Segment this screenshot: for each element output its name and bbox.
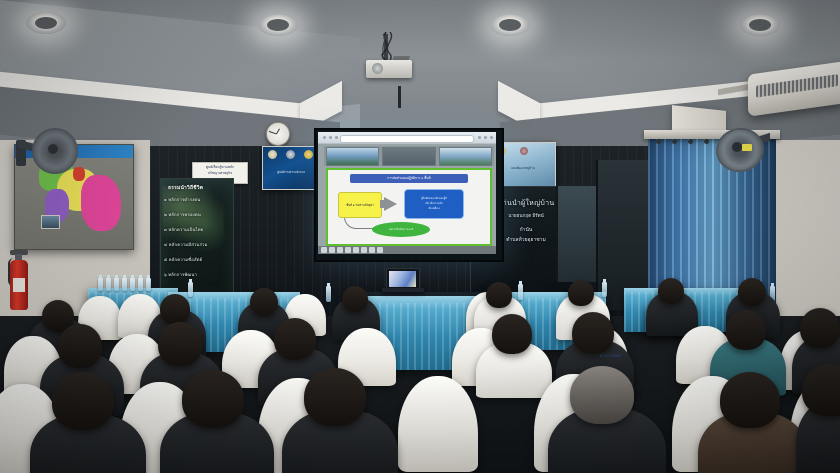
slide-thumbnail-strip [324,146,494,166]
emblem-seal-3-icon [304,150,313,159]
person-b8-head [738,278,766,306]
person-b5-head [486,282,512,308]
wall-clock-icon [266,122,290,146]
curtain-ring-4 [704,139,709,144]
browser-maximize-icon[interactable] [484,136,487,139]
browser-minimize-icon[interactable] [478,136,481,139]
browser-chrome-bar [318,132,496,144]
presenter-laptop-base [382,288,424,292]
taskbar-icon-5[interactable] [353,247,359,253]
slide-green-ellipse: ผลการดำเนินงาน ๑ ปี [372,222,430,237]
ceiling-downlight-3-icon [490,14,530,36]
slide-yellow-box: ขั้นที่ ๑ วิเคราะห์ปัญหา [338,192,382,218]
framed-poster-left-caption: ศูนย์ดำรงธรรมอำเภอ [264,170,318,175]
wall-sign-line-2: ปรัชญาเศรษฐกิจ [208,171,232,176]
slide-blue-box: ผู้รับผิดชอบหลักและผู้ที่ เกี่ยวข้องร่วม… [404,189,464,219]
curtain-ring-2 [672,139,677,144]
water-bottle-2 [106,278,111,291]
air-conditioner-vent [756,74,838,98]
projector-lens-icon [372,63,383,74]
glass-panel-item-2: ๒ หลักการครองตน [164,211,201,218]
map-region-pink [81,175,121,231]
curtain-ring-3 [688,139,693,144]
taskbar-icon-7[interactable] [369,247,375,253]
ceiling-downlight-4-icon [740,14,780,36]
person-m6-head [726,310,766,350]
browser-reload-icon[interactable] [335,136,338,139]
glass-panel-title: ธรรมนำวิถีชีวิต [168,184,203,192]
glass-panel-item-4: ๔ หลักความมีส่วนร่วม [164,241,208,248]
person-m3-head [274,318,316,360]
water-bottle-11 [602,282,607,297]
fan-label-right [742,144,752,151]
glass-panel-item-6: ๖ หลักการพัฒนา [164,271,197,278]
taskbar-icon-1[interactable] [321,247,327,253]
water-bottle-6 [138,278,143,291]
person-b4-head [342,286,368,312]
browser-back-icon[interactable] [323,136,326,139]
conference-room-photo: ศูนย์เรียนรู้ตามหลัก ปรัชญาเศรษฐกิจ ๓ ๒ … [0,0,840,473]
person-m4-head [492,314,532,354]
browser-close-icon[interactable] [490,136,493,139]
person-b3-head [250,288,278,316]
person-f3-head [304,368,366,426]
water-bottle-5 [130,278,135,291]
slide-content-area: การจัดทำแผนปฏิบัติการ ๑ พื้นที่ ขั้นที่ … [326,168,492,246]
water-bottle-8 [188,282,193,297]
slide-blue-line-2: เกี่ยวข้องร่วมกัน [425,202,443,206]
map-region-red [73,167,85,181]
browser-address-bar[interactable] [340,135,474,143]
slide-blue-line-1: ผู้รับผิดชอบหลักและผู้ที่ [421,197,446,201]
map-photo-6 [41,215,60,229]
slide-thumbnail-3[interactable] [439,147,492,166]
laptop-screen-content [389,271,416,287]
emblem-seal-5-icon [520,147,528,155]
taskbar-icon-2[interactable] [329,247,335,253]
wall-sign-line-1: ศูนย์เรียนรู้ตามหลัก [206,165,234,170]
water-bottle-3 [114,278,119,291]
browser-forward-icon[interactable] [329,136,332,139]
water-bottle-10 [518,284,523,300]
water-bottle-1 [98,278,103,291]
projection-screen: การจัดทำแผนปฏิบัติการ ๑ พื้นที่ ขั้นที่ … [318,132,496,254]
glass-panel-item-1: ๑ หลักการดำรงตน [164,196,200,203]
slide-title-banner: การจัดทำแผนปฏิบัติการ ๑ พื้นที่ [350,174,468,183]
person-b6-head [568,280,594,306]
desktop-taskbar [318,246,496,254]
person-f2-head [182,370,244,428]
taskbar-icon-3[interactable] [337,247,343,253]
wall-fan-left [18,128,74,172]
fan-hub-right [732,142,742,152]
emblem-seal-1-icon [268,150,277,159]
glass-panel-item-5: ๕ หลักความซื่อสัตย์ [164,256,202,263]
slide-blue-line-3: ขับเคลื่อน [429,207,440,211]
water-bottle-4 [122,278,127,291]
slide-flow-arrow-icon [384,197,397,211]
ceiling-downlight-1-icon [26,12,66,34]
person-b7-head [658,278,684,304]
person-f5-head [720,372,780,428]
slide-thumbnail-1[interactable] [326,147,379,166]
ceiling-downlight-2-icon [258,14,298,36]
taskbar-icon-6[interactable] [361,247,367,253]
taskbar-icon-8[interactable] [377,247,383,253]
water-bottle-9 [326,286,331,302]
person-m2-head [158,322,202,366]
extinguisher-label [13,278,25,292]
fire-extinguisher [8,248,30,310]
person-f1-head [52,372,114,430]
fan-hub-left [48,144,58,154]
person-f4-head [570,366,634,424]
person-m7-head [800,308,840,348]
wall-fan-right [716,128,770,174]
person-m5-head [572,312,614,354]
emblem-seal-2-icon [286,150,295,159]
person-b2-head [160,294,190,324]
uniform-shirt-print: อาสาสมัคร [600,352,622,359]
glass-panel-item-3: ๓ หลักความเป็นไทย [164,226,203,233]
taskbar-icon-4[interactable] [345,247,351,253]
water-bottle-7 [146,278,151,291]
curtain-ring-1 [656,139,661,144]
person-m1-head [58,324,102,368]
slide-thumbnail-2[interactable] [382,147,435,166]
ceiling-cable [398,86,401,108]
